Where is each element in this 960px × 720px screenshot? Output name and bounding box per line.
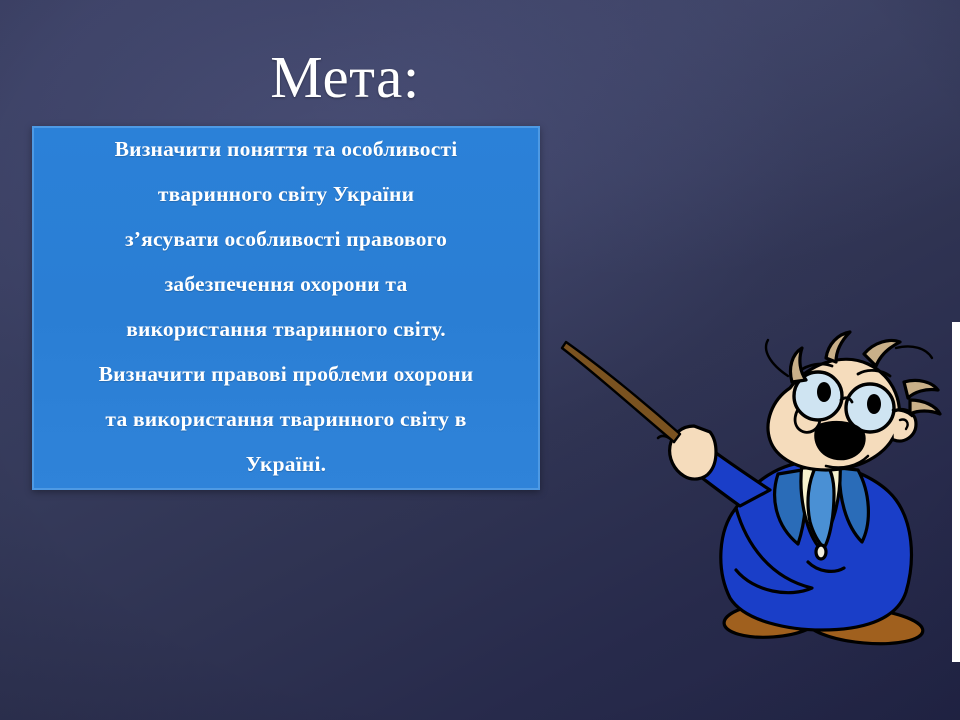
professor-illustration xyxy=(540,330,960,670)
objectives-line: тваринного світу України xyxy=(158,172,414,217)
hair-tuft-side-lower xyxy=(910,400,940,414)
slide-title: Мета: xyxy=(0,44,690,110)
hair-tuft-top-right xyxy=(864,341,900,367)
jacket-button xyxy=(816,545,826,559)
pupil-left xyxy=(817,382,831,402)
objectives-line: використання тваринного світу. xyxy=(126,307,446,352)
objectives-line: забезпечення охорони та xyxy=(165,262,408,307)
hair-wisp-left xyxy=(766,340,788,376)
pupil-right xyxy=(867,394,881,414)
objectives-line: Україні. xyxy=(246,442,326,487)
hair-wisp-right xyxy=(896,346,932,358)
objectives-line: та використання тваринного світу в xyxy=(105,397,466,442)
mouth xyxy=(816,422,864,458)
hair-tuft-top xyxy=(826,332,850,362)
hair-tuft-side xyxy=(904,380,938,398)
objectives-line: Визначити правові проблеми охорони xyxy=(99,352,474,397)
right-edge-strip xyxy=(952,322,960,662)
hair-tuft-top-left xyxy=(790,348,806,382)
objectives-line: Визначити поняття та особливості xyxy=(115,127,458,172)
pointer-stick xyxy=(562,342,680,442)
objectives-line: з’ясувати особливості правового xyxy=(125,217,447,262)
objectives-textbox: Визначити поняття та особливості тваринн… xyxy=(32,126,540,490)
presentation-slide: Мета: Визначити поняття та особливості т… xyxy=(0,0,960,720)
